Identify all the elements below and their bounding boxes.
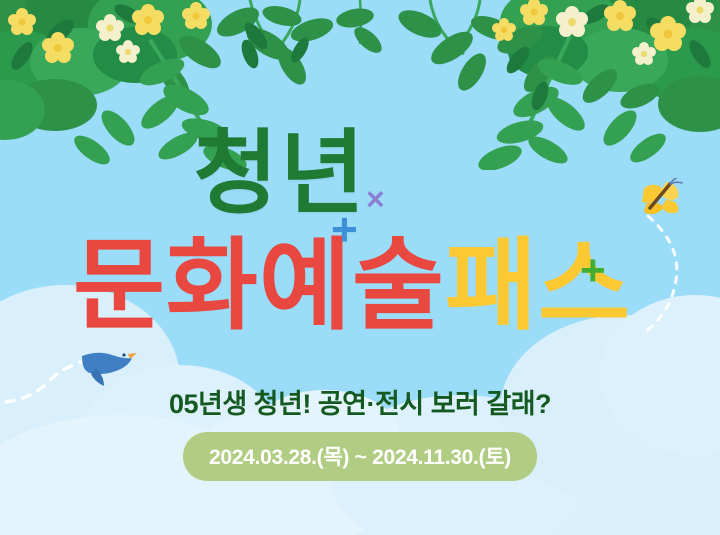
subtitle-text: 05년생 청년! 공연·전시 보러 갈래? <box>0 382 720 421</box>
title-line2-red-text: 문화예술 <box>73 230 445 342</box>
cross-purple-icon: × <box>366 183 385 215</box>
plus-green-icon: + <box>580 249 606 293</box>
title-line-culture-pass: 문화예술패스 <box>0 236 720 336</box>
promo-banner: 청년 문화예술패스 + × + 05년생 청년! 공연·전시 보러 갈래? 20… <box>0 0 720 535</box>
title-line-youth: 청년 <box>0 128 720 220</box>
plus-blue-icon: + <box>331 206 358 252</box>
date-range-badge: 2024.03.28.(목) ~ 2024.11.30.(토) <box>183 432 537 481</box>
